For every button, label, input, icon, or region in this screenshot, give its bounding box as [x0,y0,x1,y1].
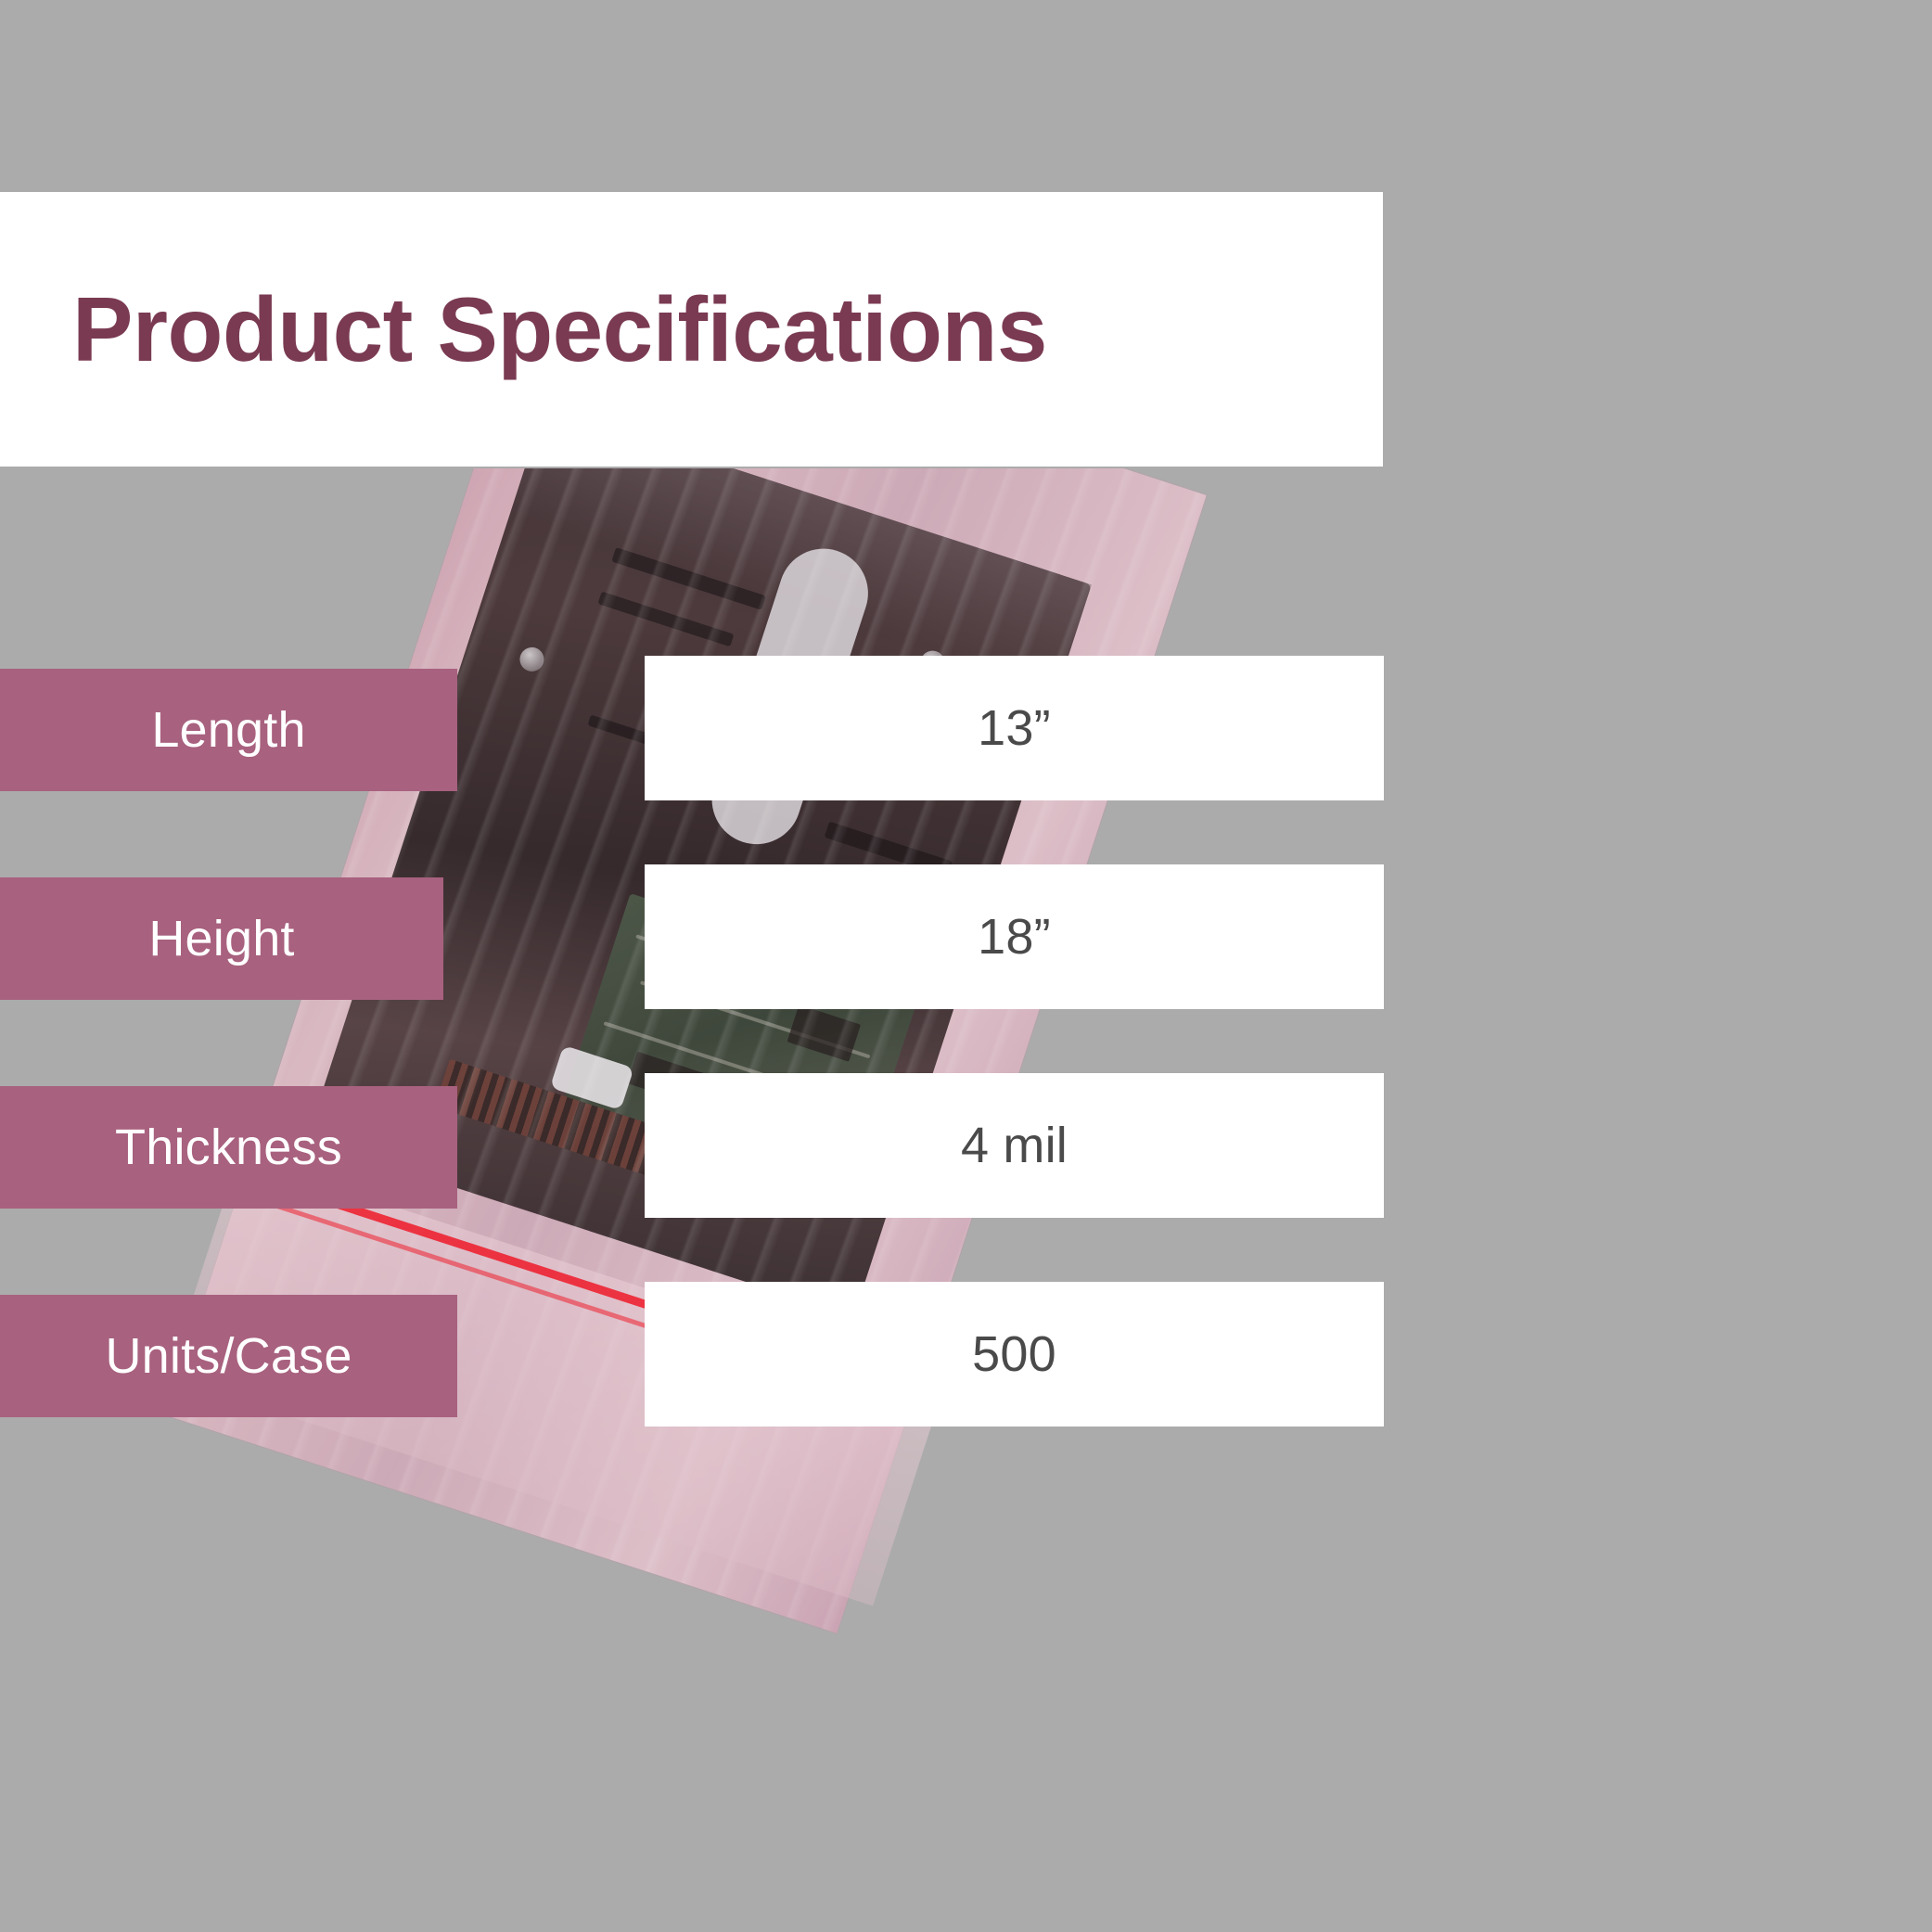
spec-value-height: 18” [978,908,1051,966]
product-photo-clip [0,468,1932,1646]
spec-row: Units/Case 500 [0,1282,1932,1430]
spec-value-thickness: 4 mil [961,1117,1068,1174]
product-specifications-graphic: Product Specifications Length 13” Height… [0,0,1932,1932]
page-title: Product Specifications [0,284,1047,375]
pcb-trace [603,1021,772,1080]
spec-value-units-per-case: 500 [972,1325,1056,1383]
spec-row: Length 13” [0,656,1932,804]
spec-row: Height 18” [0,864,1932,1013]
spec-row: Thickness 4 mil [0,1073,1932,1222]
spec-value-box-thickness: 4 mil [645,1073,1384,1218]
title-card: Product Specifications [0,192,1383,467]
spec-label-units-per-case: Units/Case [0,1295,457,1417]
bag-plastic-sheen [166,468,1206,1633]
spec-value-box-units-per-case: 500 [645,1282,1384,1427]
antistatic-bag-image [166,468,1206,1633]
spec-value-length: 13” [978,699,1051,757]
spec-label-height: Height [0,877,443,1000]
device-slot [611,547,766,610]
spec-value-box-height: 18” [645,864,1384,1009]
spec-label-thickness: Thickness [0,1086,457,1209]
device-slot [597,592,734,647]
pcb-chip [787,1004,862,1062]
spec-label-length: Length [0,669,457,791]
spec-value-box-length: 13” [645,656,1384,800]
